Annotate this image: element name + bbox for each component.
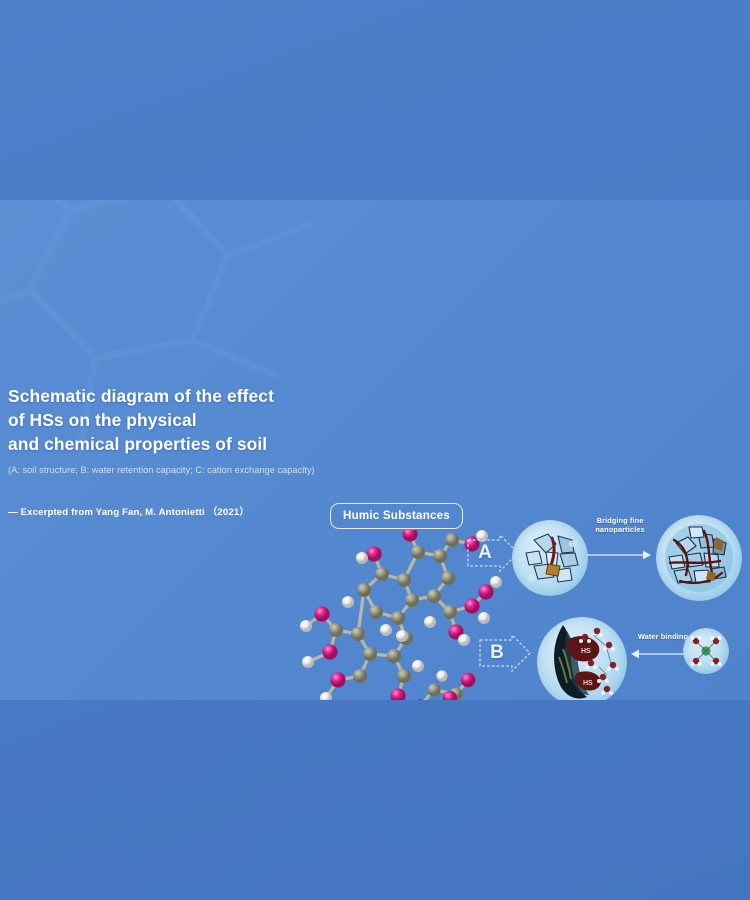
pathway-letter-a: A [466,533,504,573]
subtitle-legend: (A: soil structure; B: water retention c… [8,464,338,476]
illustration-circle-b-hydrated-cation [683,628,729,674]
flow-label-bridging-line2: nanoparticles [595,525,644,534]
humic-substances-label: Humic Substances [330,503,463,529]
caption-block: Schematic diagram of the effect of HSs o… [8,385,338,518]
illustration-circle-a-after [656,515,742,601]
hs-mark-1: HS [581,648,591,655]
title-line-3: and chemical properties of soil [8,434,267,454]
flow-arrow-right-a-icon [586,549,652,561]
title-line-1: Schematic diagram of the effect [8,386,274,406]
flow-label-bridging: Bridging fine nanoparticles [584,516,656,535]
aggregated-soil-icon [656,515,742,601]
illustration-circle-b-hs-water: HS HS [537,617,627,700]
flow-arrow-left-b-icon [630,648,686,660]
pathway-letter-b: B [478,633,516,673]
soil-aggregate-icon [512,520,588,596]
title-line-2: of HSs on the physical [8,410,197,430]
page-title: Schematic diagram of the effect of HSs o… [8,385,338,457]
source-citation: — Excerpted from Yang Fan, M. Antonietti… [8,504,338,518]
pathway-tag-b: B [478,633,532,673]
flow-label-water-line1: Water binding [638,632,688,641]
hs-water-binding-icon: HS HS [537,617,627,700]
hydrated-cation-icon [683,628,729,674]
illustration-circle-a-before [512,520,588,596]
figure-banner: Schematic diagram of the effect of HSs o… [0,200,750,700]
flow-label-bridging-line1: Bridging fine [597,516,644,525]
figure-canvas: Schematic diagram of the effect of HSs o… [0,0,750,900]
hs-mark-2: HS [583,680,593,687]
